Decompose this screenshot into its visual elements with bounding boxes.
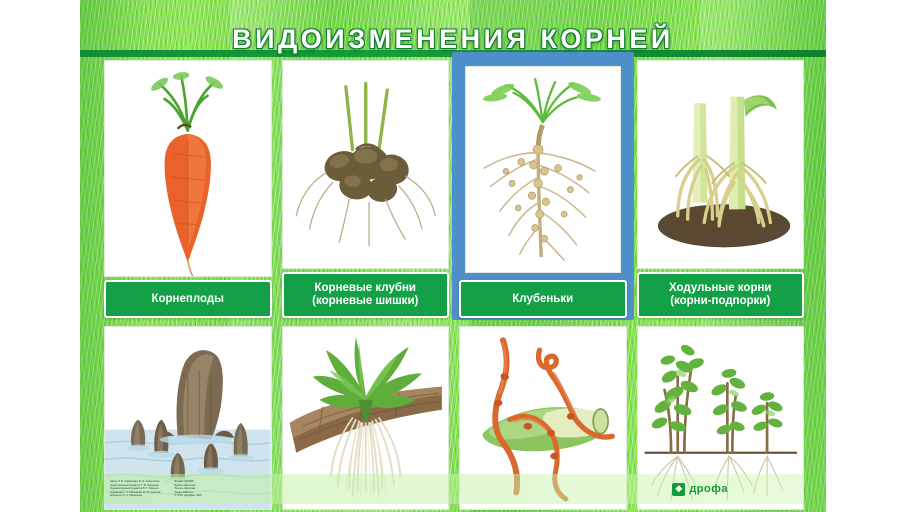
carrot-taproot-icon — [105, 61, 271, 276]
educational-poster: ВИДОИЗМЕНЕНИЯ КОРНЕЙ — [80, 0, 826, 512]
card-korneplody[interactable]: Корнеплоды — [104, 60, 272, 318]
credits-column-1: Автор И. Б. Агафонова, В. И. Сивоглазов … — [110, 480, 160, 497]
root-nodules-icon — [466, 67, 620, 272]
card-label-hodulnye-korni: Ходульные корни (корни-подпорки) — [637, 272, 805, 318]
publisher-logo: ❖ дрофа — [672, 483, 728, 496]
drofa-bird-icon: ❖ — [672, 483, 685, 496]
card-image-hodulnye-korni — [637, 60, 805, 269]
card-image-kornevye-klubni — [282, 60, 450, 269]
label-line-1: Ходульные корни — [669, 282, 771, 295]
card-label-klubenki: Клубеньки — [459, 280, 627, 318]
card-grid: Корнеплоды — [104, 60, 804, 470]
screenshot-canvas: ВИДОИЗМЕНЕНИЯ КОРНЕЙ — [0, 0, 910, 512]
root-tubers-icon — [283, 61, 449, 268]
card-image-korneplody — [104, 60, 272, 277]
credits-column-2: Формат 60х90/8 Бумага офсетная Печать оф… — [174, 480, 202, 497]
page-title: ВИДОИЗМЕНЕНИЯ КОРНЕЙ — [232, 24, 674, 55]
credits-strip: Автор И. Б. Агафонова, В. И. Сивоглазов … — [104, 474, 804, 504]
label-line-1: Корневые клубни — [312, 282, 418, 295]
card-klubenki[interactable]: Клубеньки — [459, 60, 627, 318]
card-image-klubenki — [465, 66, 621, 273]
card-label-kornevye-klubni: Корневые клубни (корневые шишки) — [282, 272, 450, 318]
stilt-roots-icon — [638, 61, 804, 268]
poster-title-bar: ВИДОИЗМЕНЕНИЯ КОРНЕЙ — [80, 22, 826, 56]
card-label-korneplody: Корнеплоды — [104, 280, 272, 318]
label-line-2: (корни-подпорки) — [669, 295, 771, 308]
label-line-1: Корнеплоды — [151, 293, 224, 306]
card-kornevye-klubni[interactable]: Корневые клубни (корневые шишки) — [282, 60, 450, 318]
card-hodulnye-korni[interactable]: Ходульные корни (корни-подпорки) — [637, 60, 805, 318]
label-line-1: Клубеньки — [512, 293, 573, 306]
label-line-2: (корневые шишки) — [312, 295, 418, 308]
publisher-name: дрофа — [689, 483, 728, 495]
